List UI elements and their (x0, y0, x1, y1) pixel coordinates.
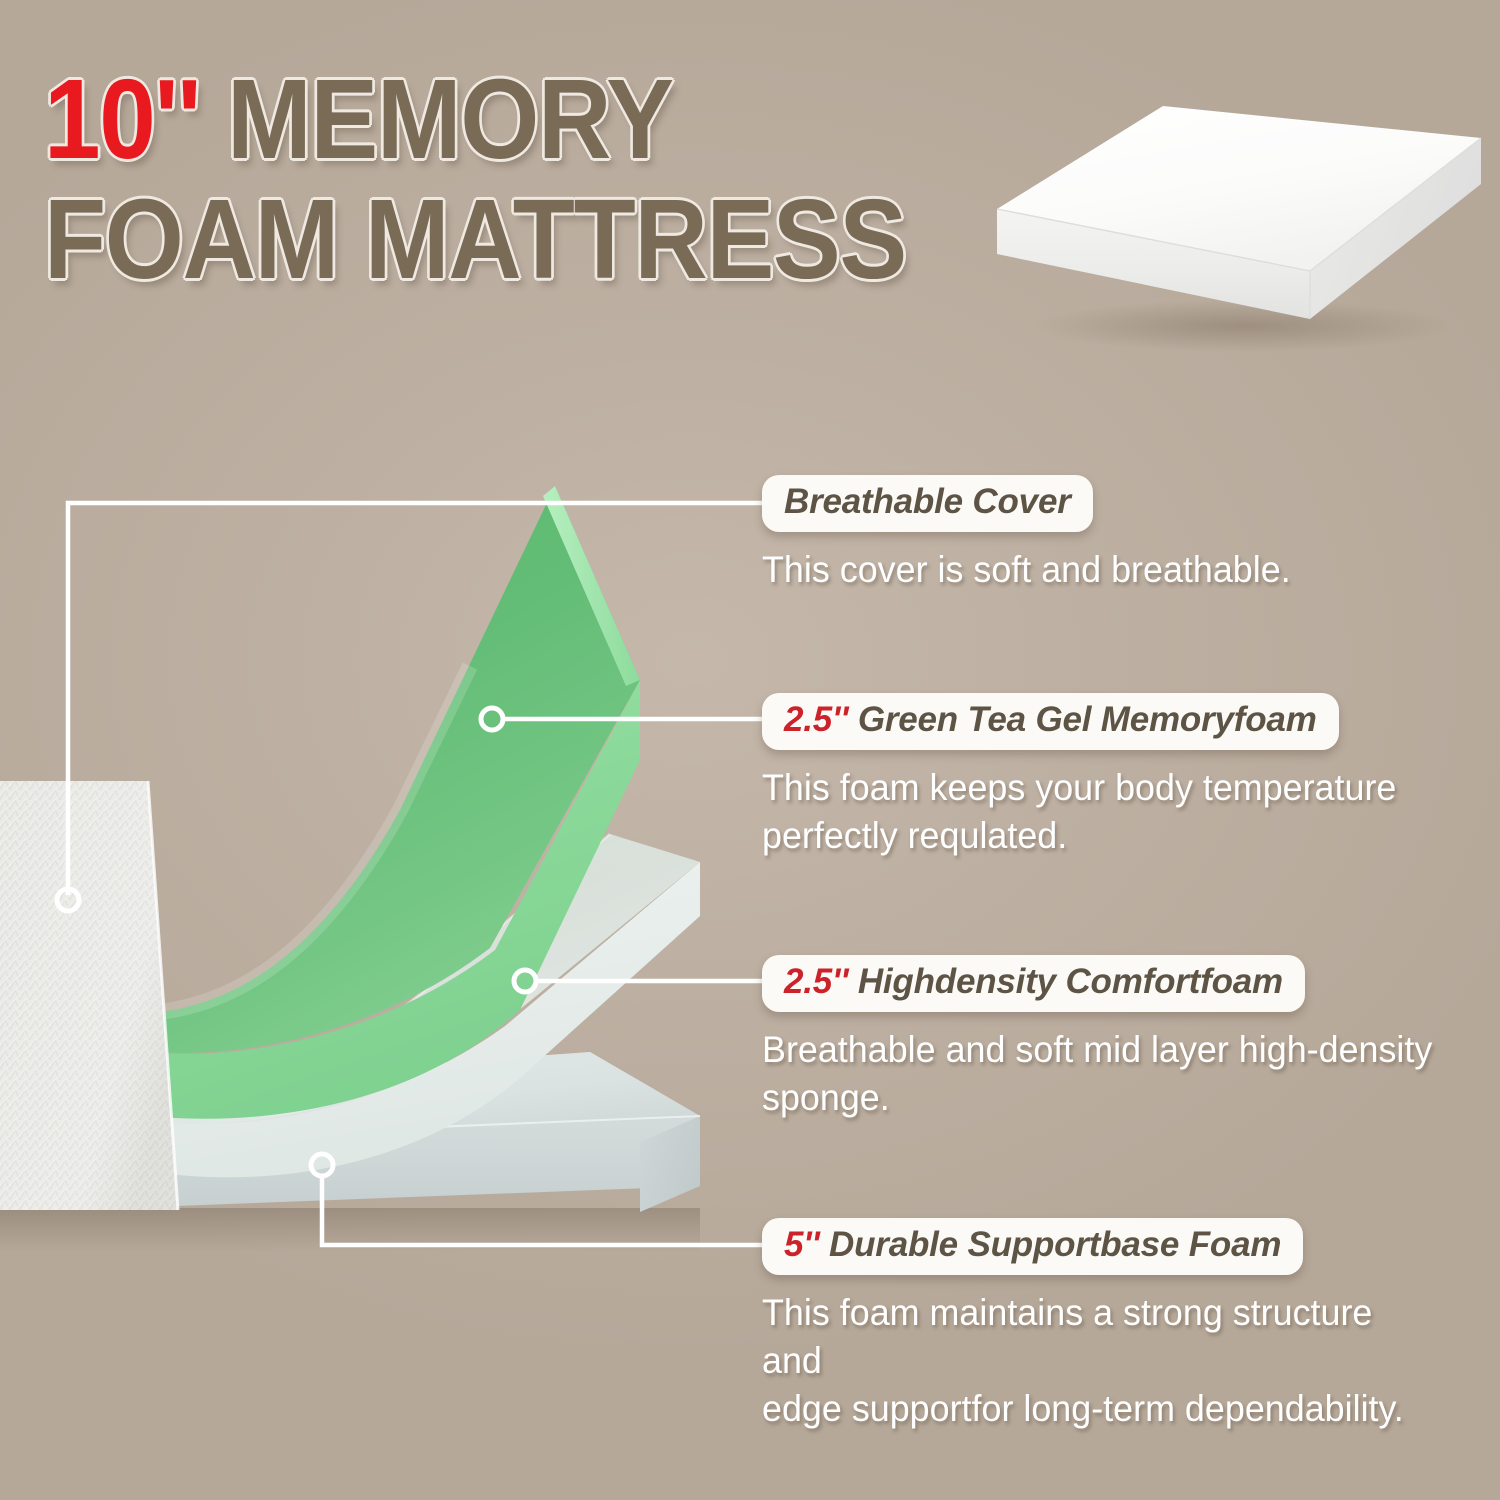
pill-green-tea-gel-memoryfoam[interactable]: 2.5'' Green Tea Gel Memoryfoam (762, 693, 1339, 750)
mattress-photo-svg (980, 78, 1490, 368)
callout-body-line: edge supportfor long-term dependability. (762, 1385, 1441, 1433)
pill-highdensity-comfortfoam[interactable]: 2.5'' Highdensity Comfortfoam (762, 955, 1305, 1012)
pill-label-green: Green Tea Gel Memoryfoam (848, 700, 1316, 739)
pill-breathable-cover[interactable]: Breathable Cover (762, 475, 1093, 532)
callout-body-mid: Breathable and soft mid layer high-densi… (762, 1026, 1432, 1122)
title-measure: 10'' (44, 56, 200, 182)
callout-breathable-cover: Breathable Cover This cover is soft and … (762, 475, 1307, 594)
pill-measure-base: 5'' (784, 1225, 820, 1264)
infographic-canvas: 10'' MEMORY FOAM MATTRESS (0, 0, 1500, 1500)
pill-measure-mid: 2.5'' (784, 962, 848, 1001)
pill-measure-green: 2.5'' (784, 700, 848, 739)
title-line-1-rest: MEMORY (200, 56, 673, 182)
callout-body-line: This cover is soft and breathable. (762, 546, 1291, 594)
callout-body-line: Breathable and soft mid layer high-densi… (762, 1026, 1432, 1074)
pill-label-base: Durable Supportbase Foam (820, 1225, 1282, 1264)
layers-svg (0, 430, 770, 1260)
page-title: 10'' MEMORY FOAM MATTRESS (44, 66, 984, 292)
callout-body-cover: This cover is soft and breathable. (762, 546, 1291, 594)
callout-body-green: This foam keeps your body temperature pe… (762, 764, 1396, 860)
callout-body-line: This foam keeps your body temperature (762, 764, 1396, 812)
pill-durable-supportbase-foam[interactable]: 5'' Durable Supportbase Foam (762, 1218, 1303, 1275)
callout-green-tea-gel-memoryfoam: 2.5'' Green Tea Gel Memoryfoam This foam… (762, 693, 1416, 860)
callout-durable-supportbase-foam: 5'' Durable Supportbase Foam This foam m… (762, 1218, 1462, 1433)
callout-body-line: perfectly requlated. (762, 812, 1396, 860)
callout-highdensity-comfortfoam: 2.5'' Highdensity Comfortfoam Breathable… (762, 955, 1453, 1122)
product-photo-mattress (980, 78, 1490, 368)
title-line-1: 10'' MEMORY (44, 66, 890, 172)
mattress-layers-illustration (0, 430, 770, 1260)
stack-ground-shadow (0, 1208, 700, 1252)
title-line-2: FOAM MATTRESS (44, 186, 890, 292)
callout-body-base: This foam maintains a strong structure a… (762, 1289, 1441, 1433)
callout-body-line: This foam maintains a strong structure a… (762, 1289, 1441, 1385)
pill-label-cover: Breathable Cover (784, 482, 1071, 521)
breathable-cover-fabric-panel (0, 781, 178, 1210)
pill-label-mid: Highdensity Comfortfoam (848, 962, 1283, 1001)
callout-body-line: sponge. (762, 1074, 1432, 1122)
photo-shadow (1032, 300, 1452, 352)
